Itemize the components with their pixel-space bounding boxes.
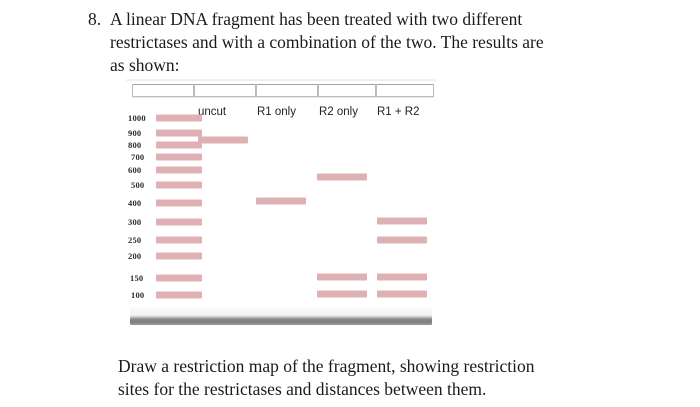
ladder-label-500: 500 [131,180,144,190]
lane-label-r1-only: R1 only [257,106,296,118]
ladder-band-250 [156,237,202,244]
well-r2-only [318,84,376,97]
r1-r2-band-250 [377,237,427,244]
ladder-band-600 [156,167,202,174]
question-line-3: as shown: [110,54,618,77]
ladder-band-150 [156,275,202,282]
ladder-band-400 [156,200,202,207]
well-uncut [194,84,256,97]
ladder-label-800: 800 [128,140,141,150]
uncut-band-800 [198,137,248,144]
ladder-label-1000: 1000 [128,113,146,123]
question-line-1: A linear DNA fragment has been treated w… [110,8,618,31]
document-page: 8. A linear DNA fragment has been treate… [0,0,700,407]
lane-label-r2-only: R2 only [319,106,358,118]
ladder-band-900 [156,130,202,137]
ladder-label-300: 300 [128,217,141,227]
ladder-label-600: 600 [128,165,141,175]
ladder-label-100: 100 [131,290,144,300]
ladder-band-500 [156,182,202,189]
question-body: A linear DNA fragment has been treated w… [110,8,618,77]
well-inner [196,86,254,95]
instruction-line-2: sites for the restrictases and distances… [118,378,658,401]
question-line-2: restrictases and with a combination of t… [110,31,618,54]
well-r1-r2 [376,84,434,97]
well-ladder [132,84,194,97]
question-number: 8. [88,8,101,31]
r1-r2-band-100 [377,291,427,298]
r2-only-band-550 [317,174,367,181]
ladder-band-100 [156,292,202,299]
gel-bottom-bar [130,314,432,325]
instruction-line-1: Draw a restriction map of the fragment, … [118,355,658,378]
ladder-band-700 [156,154,202,161]
well-r1-only [256,84,318,97]
ladder-label-200: 200 [128,251,141,261]
gel-electrophoresis-figure: uncut R1 only R2 only R1 + R2 1000 900 8… [126,78,436,328]
well-inner [378,86,432,95]
lane-label-uncut: uncut [198,106,226,118]
r2-only-band-150 [317,274,367,281]
well-inner [134,86,192,95]
ladder-label-700: 700 [131,152,144,162]
question-text: 8. A linear DNA fragment has been treate… [88,8,618,77]
ladder-label-250: 250 [128,235,141,245]
r1-only-band-400 [256,198,306,205]
r1-r2-band-150 [377,274,427,281]
instruction-text: Draw a restriction map of the fragment, … [118,355,658,401]
lane-label-r1-r2: R1 + R2 [377,106,420,118]
r1-r2-band-300 [377,218,427,225]
ladder-band-300 [156,219,202,226]
ladder-band-800 [156,142,202,149]
ladder-band-1000 [156,115,202,122]
ladder-band-200 [156,253,202,260]
ladder-label-400: 400 [128,198,141,208]
well-inner [320,86,374,95]
well-inner [258,86,316,95]
r2-only-band-100 [317,291,367,298]
ladder-label-150: 150 [130,273,143,283]
ladder-label-900: 900 [128,128,141,138]
gel-top-rule [126,79,436,81]
